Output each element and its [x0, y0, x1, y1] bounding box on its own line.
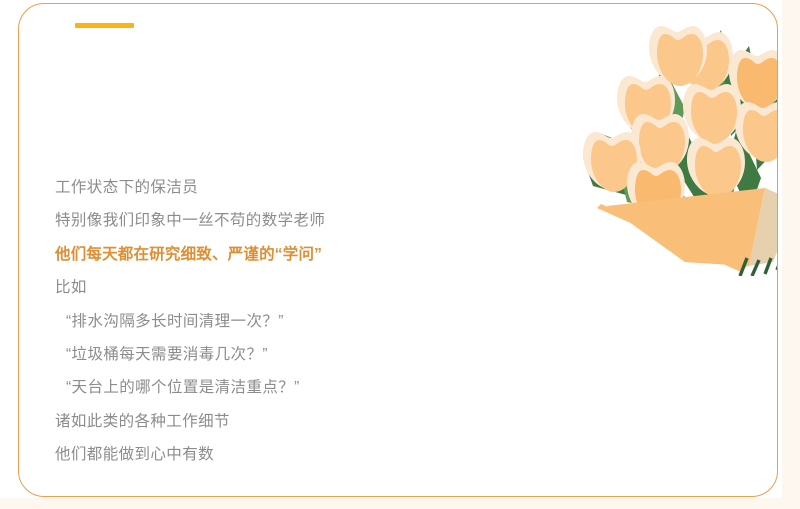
- copy-line-1: 工作状态下的保洁员: [55, 171, 485, 204]
- copy-line-3-highlight: 他们每天都在研究细致、严谨的“学问”: [55, 238, 485, 271]
- copy-line-8: 诸如此类的各种工作细节: [55, 405, 485, 438]
- copy-line-5-quote: “排水沟隔多长时间清理一次？”: [55, 305, 485, 338]
- copy-line-4: 比如: [55, 271, 485, 304]
- copy-line-6-quote: “垃圾桶每天需要消毒几次？”: [55, 338, 485, 371]
- copy-line-7-quote: “天台上的哪个位置是清洁重点？”: [55, 371, 485, 404]
- article-copy: 工作状态下的保洁员 特别像我们印象中一丝不苟的数学老师 他们每天都在研究细致、严…: [55, 171, 485, 472]
- tulip-bouquet-illustration: [535, 10, 778, 276]
- screenshot-canvas: 工作状态下的保洁员 特别像我们印象中一丝不苟的数学老师 他们每天都在研究细致、严…: [0, 0, 800, 509]
- copy-line-9: 他们都能做到心中有数: [55, 438, 485, 471]
- bouquet-wrapper: [597, 188, 778, 272]
- copy-line-2: 特别像我们印象中一丝不苟的数学老师: [55, 204, 485, 237]
- content-card: 工作状态下的保洁员 特别像我们印象中一丝不苟的数学老师 他们每天都在研究细致、严…: [18, 3, 778, 497]
- accent-bar: [75, 23, 134, 28]
